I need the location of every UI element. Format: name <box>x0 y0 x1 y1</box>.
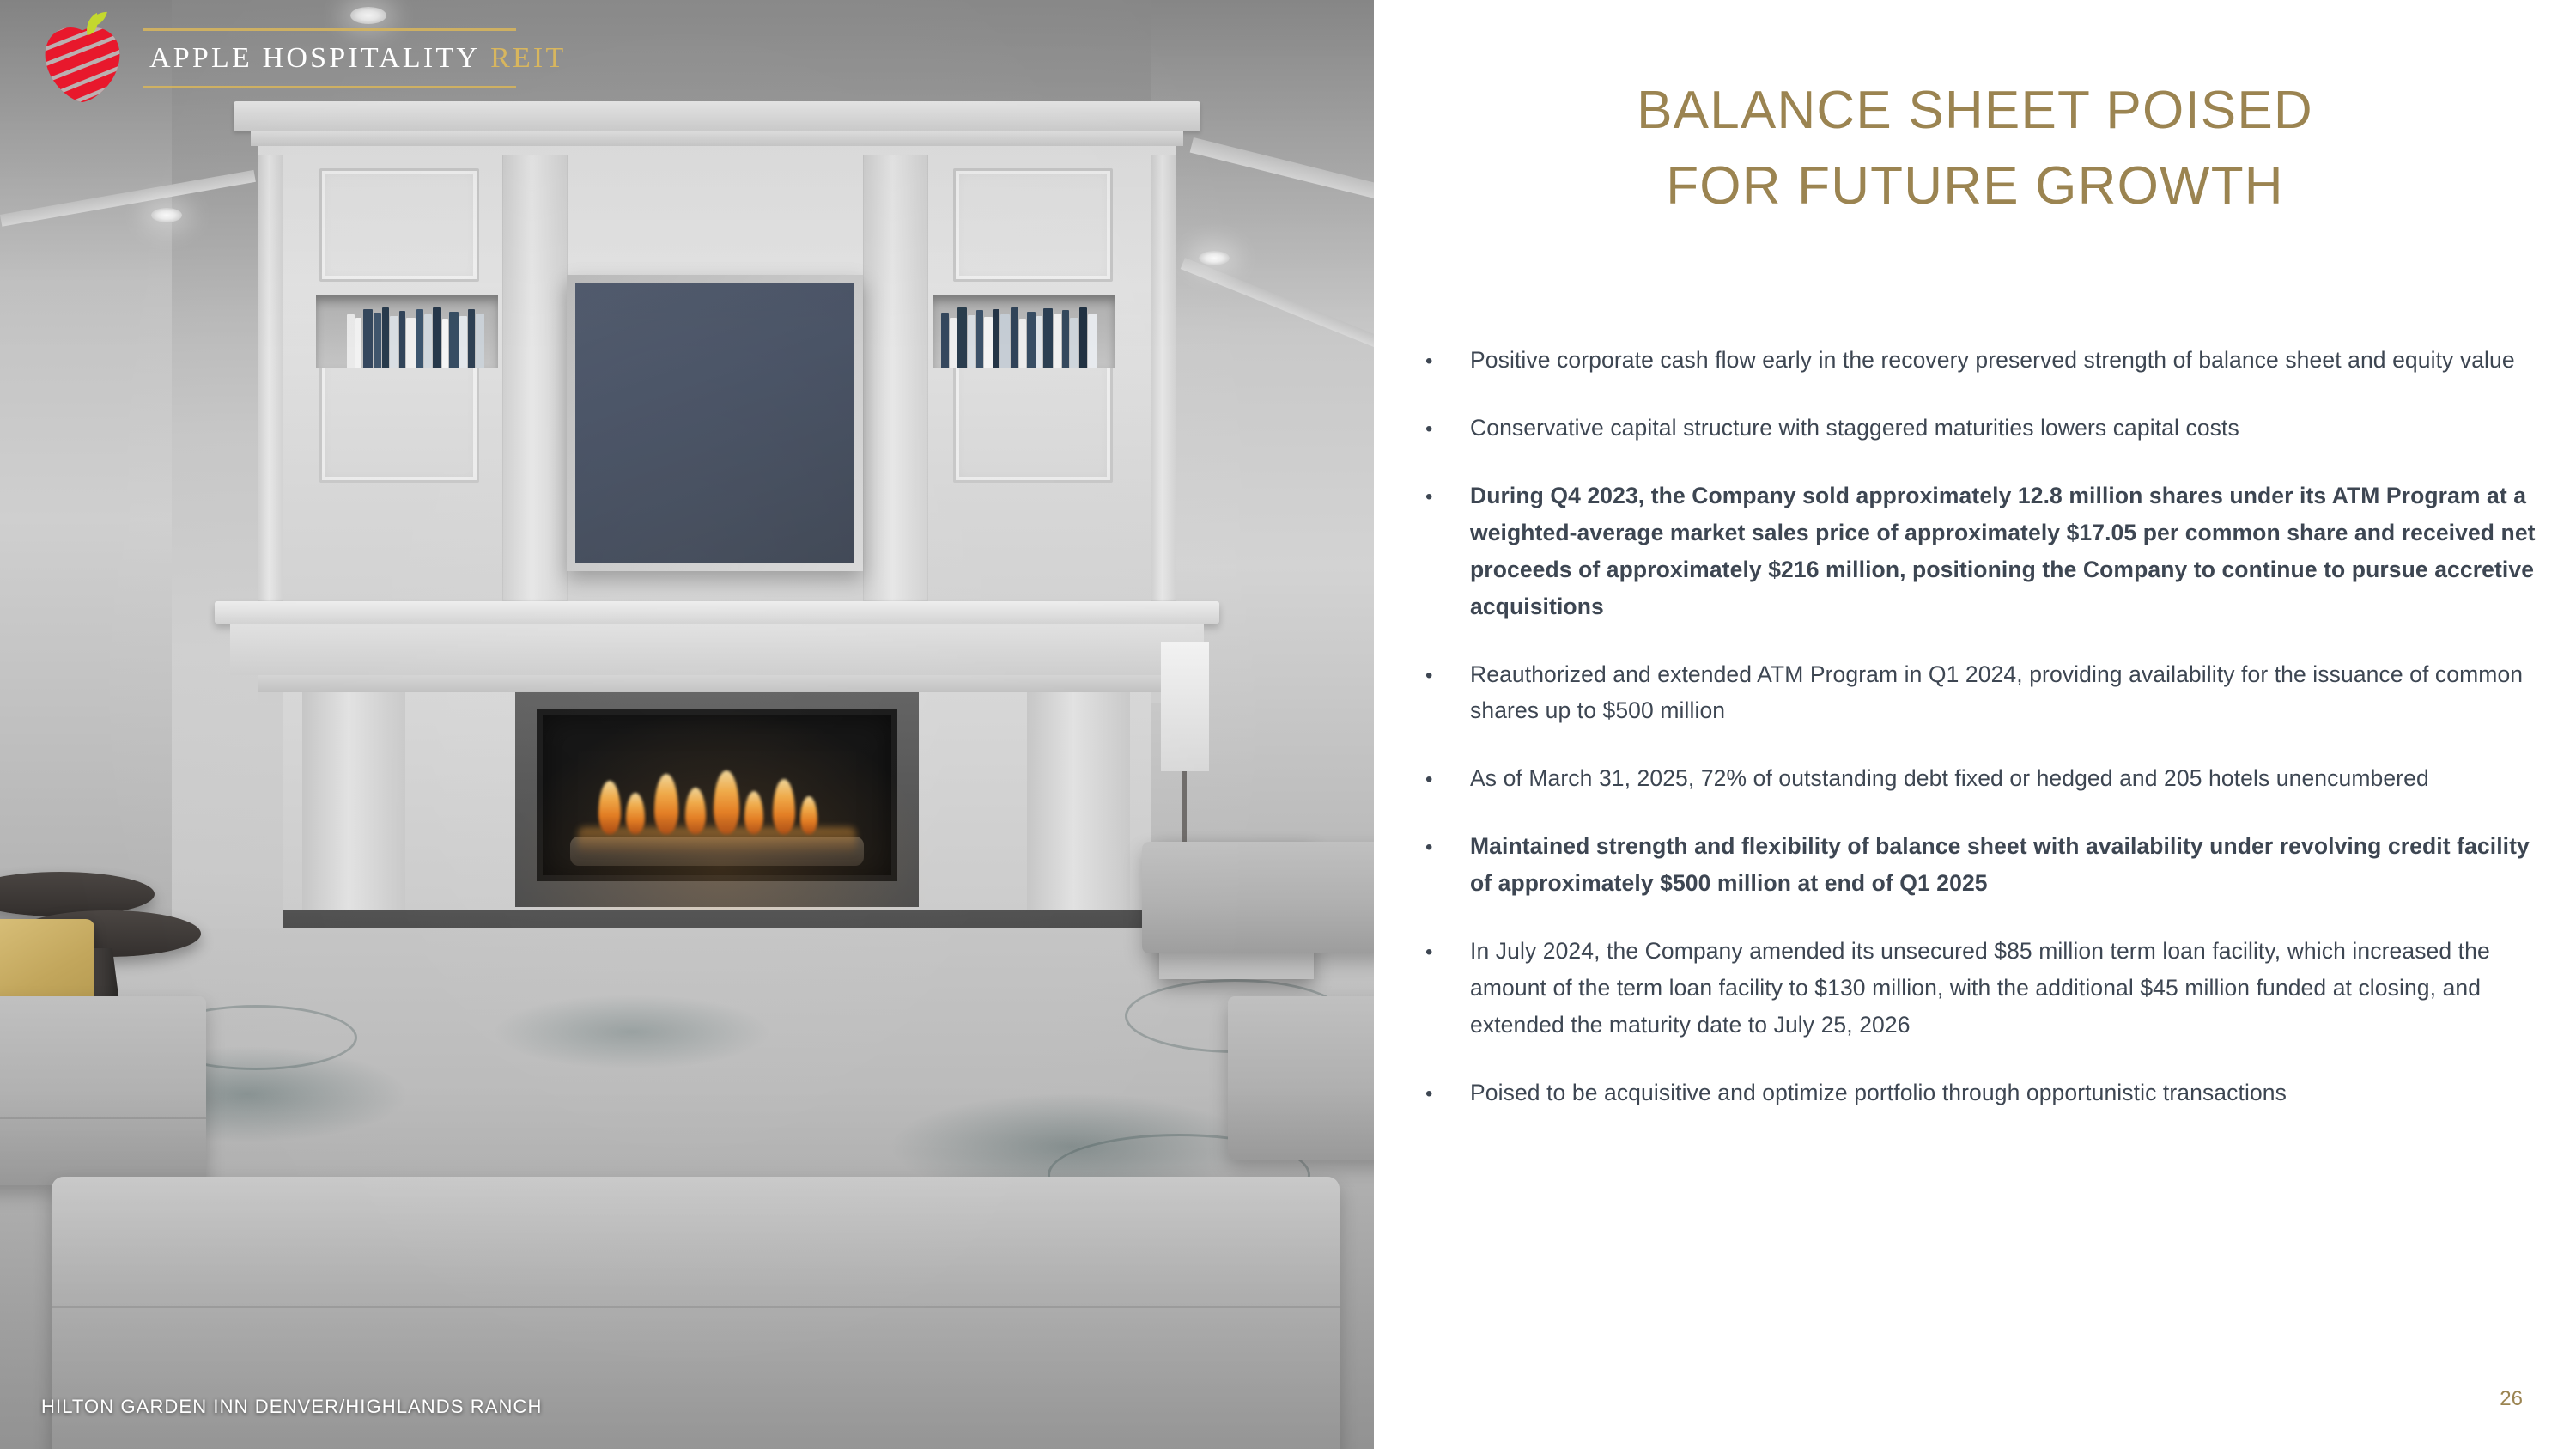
list-item: • Positive corporate cash flow early in … <box>1425 342 2542 379</box>
list-item: • Conservative capital structure with st… <box>1425 410 2542 447</box>
pilaster-outer-left <box>258 155 283 601</box>
book <box>382 307 389 368</box>
bullet-point-icon: • <box>1425 342 1470 379</box>
flame <box>744 791 763 834</box>
book <box>1088 314 1097 368</box>
list-item: • During Q4 2023, the Company sold appro… <box>1425 478 2542 625</box>
lounge-sofa-left <box>0 996 206 1185</box>
book <box>1036 316 1042 368</box>
bullet-text: As of March 31, 2025, 72% of outstanding… <box>1470 760 2542 797</box>
fireplace-leg-left <box>302 692 405 914</box>
slide-content-panel: BALANCE SHEET POISED FOR FUTURE GROWTH •… <box>1374 0 2576 1449</box>
sofa-seam <box>0 1117 206 1119</box>
lounge-chair-right <box>1228 996 1374 1160</box>
list-item: • Poised to be acquisitive and optimize … <box>1425 1075 2542 1111</box>
book <box>363 309 373 368</box>
logo-words: APPLE HOSPITALITYREIT <box>149 32 566 83</box>
wall-left <box>0 0 172 945</box>
book <box>1019 319 1026 368</box>
foreground-sofa-seam <box>52 1306 1340 1308</box>
panel-molding-right-upper <box>953 168 1113 282</box>
book <box>433 307 441 368</box>
book <box>993 309 999 368</box>
bullet-text: Reauthorized and extended ATM Program in… <box>1470 656 2542 730</box>
chimney-crown-molding-2 <box>251 131 1183 146</box>
book <box>424 314 432 368</box>
book <box>984 317 993 368</box>
flame <box>598 781 621 834</box>
book <box>416 309 423 368</box>
bullet-point-icon: • <box>1425 828 1470 902</box>
lounge-ottoman-right <box>1142 842 1374 953</box>
book <box>950 318 957 368</box>
book <box>476 314 484 368</box>
logo-wordmark: APPLE HOSPITALITYREIT <box>143 32 573 83</box>
flame <box>800 796 817 834</box>
pilaster-right <box>863 155 928 601</box>
fireplace-mantel-body <box>230 624 1204 675</box>
bullet-text: Maintained strength and flexibility of b… <box>1470 828 2542 902</box>
ceiling-downlight-3 <box>1199 251 1230 265</box>
bullet-text: Positive corporate cash flow early in th… <box>1470 342 2542 379</box>
page-title: BALANCE SHEET POISED FOR FUTURE GROWTH <box>1374 79 2576 219</box>
book <box>449 312 459 368</box>
page-title-line-2: FOR FUTURE GROWTH <box>1374 155 2576 218</box>
book <box>1062 310 1069 368</box>
bullet-text: Poised to be acquisitive and optimize po… <box>1470 1075 2542 1111</box>
bullet-point-icon: • <box>1425 478 1470 625</box>
photo-caption: HILTON GARDEN INN DENVER/HIGHLANDS RANCH <box>41 1396 542 1418</box>
list-item: • In July 2024, the Company amended its … <box>1425 933 2542 1044</box>
page-number: 26 <box>2500 1387 2523 1411</box>
logo-text-reit: REIT <box>490 42 566 74</box>
list-item: • Reauthorized and extended ATM Program … <box>1425 656 2542 730</box>
book <box>1000 314 1010 368</box>
apple-logo-icon <box>34 11 131 104</box>
bullet-point-icon: • <box>1425 656 1470 730</box>
book <box>390 316 398 368</box>
flame <box>773 779 795 834</box>
bullet-text: Conservative capital structure with stag… <box>1470 410 2542 447</box>
book <box>976 310 983 368</box>
bullet-text: During Q4 2023, the Company sold approxi… <box>1470 478 2542 625</box>
book <box>347 314 355 368</box>
book <box>374 313 381 368</box>
logo-text-apple-hospitality: APPLE HOSPITALITY <box>149 42 480 74</box>
flame <box>654 774 678 834</box>
book <box>1070 318 1078 368</box>
bullet-text: In July 2024, the Company amended its un… <box>1470 933 2542 1044</box>
presentation-slide: APPLE HOSPITALITYREIT HILTON GARDEN INN … <box>0 0 2576 1449</box>
book <box>968 315 975 368</box>
artwork-canvas <box>575 283 854 563</box>
artwork-gold-band-edge <box>575 370 854 466</box>
floor-lamp-shade <box>1161 642 1209 771</box>
book <box>1079 307 1087 368</box>
bullet-point-icon: • <box>1425 410 1470 447</box>
bullet-point-icon: • <box>1425 933 1470 1044</box>
pilaster-outer-right <box>1151 155 1176 601</box>
ceiling-downlight-2 <box>151 208 182 222</box>
bookshelf-niche-left <box>316 295 498 368</box>
book <box>1011 307 1018 368</box>
list-item: • Maintained strength and flexibility of… <box>1425 828 2542 902</box>
bullet-list: • Positive corporate cash flow early in … <box>1425 342 2542 1142</box>
book <box>355 318 361 368</box>
book <box>442 319 448 368</box>
list-item: • As of March 31, 2025, 72% of outstandi… <box>1425 760 2542 797</box>
pilaster-left <box>502 155 568 601</box>
wall-artwork <box>567 275 863 571</box>
book <box>468 309 475 368</box>
bookshelf-niche-right <box>933 295 1115 368</box>
company-logo: APPLE HOSPITALITYREIT <box>34 12 573 102</box>
book <box>459 316 467 368</box>
book <box>1027 312 1036 368</box>
chimney-crown-molding <box>234 101 1200 131</box>
book <box>1054 314 1061 368</box>
book <box>941 313 949 368</box>
book <box>1043 308 1053 368</box>
book <box>957 307 967 368</box>
book <box>406 318 416 368</box>
logo-rule-bottom <box>143 86 516 88</box>
flame <box>685 788 706 834</box>
fireplace-ember-bed <box>578 827 857 853</box>
page-title-line-1: BALANCE SHEET POISED <box>1374 79 2576 143</box>
bullet-point-icon: • <box>1425 1075 1470 1111</box>
fireplace-mantel-top <box>215 601 1219 624</box>
fireplace-mantel-shelf <box>258 675 1176 692</box>
flame <box>626 793 645 834</box>
book <box>399 311 405 368</box>
flame <box>714 770 739 834</box>
fireplace-leg-right <box>1027 692 1130 914</box>
fireplace-firebox <box>537 709 897 881</box>
hotel-lobby-photo: APPLE HOSPITALITYREIT HILTON GARDEN INN … <box>0 0 1374 1449</box>
logo-rule-top <box>143 28 516 31</box>
bullet-point-icon: • <box>1425 760 1470 797</box>
panel-molding-left-upper <box>319 168 479 282</box>
